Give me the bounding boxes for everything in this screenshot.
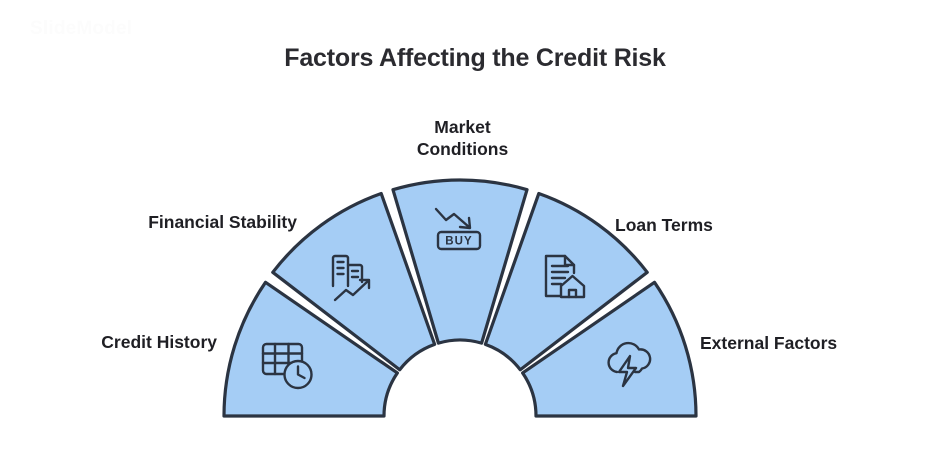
segment-label-market-conditions: Market Conditions [380,116,545,161]
segment-label-external-factors: External Factors [700,332,920,354]
segment-label-loan-terms: Loan Terms [615,214,815,236]
segment-label-credit-history: Credit History [30,331,217,353]
segment-label-financial-stability: Financial Stability [62,211,297,233]
diagram-canvas: SlideModel Factors Affecting the Credit … [0,0,950,476]
buy-button-text: BUY [445,236,473,248]
semicircle-donut-diagram: BUY [0,0,950,476]
